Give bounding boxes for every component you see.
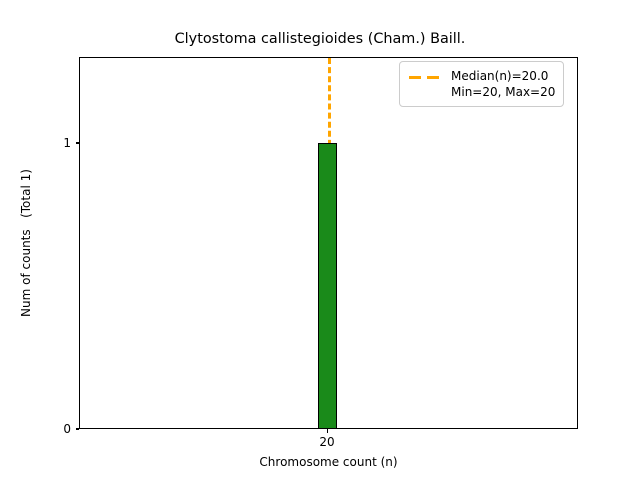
ytick-label-0: 0 (55, 423, 71, 435)
ytick-label-1: 1 (55, 137, 71, 149)
y-axis-label: Num of counts (Total 1) (19, 57, 33, 429)
ytick-mark-1 (76, 142, 80, 143)
y-axis-label-wrapper: Num of counts (Total 1) (0, 0, 48, 480)
plot-inner (80, 58, 577, 428)
xtick-mark-20 (327, 429, 328, 433)
legend-entry-median: Median(n)=20.0 (451, 68, 555, 84)
chart-title: Clytostoma callistegioides (Cham.) Baill… (0, 31, 640, 48)
ytick-mark-0 (76, 428, 80, 429)
x-axis-label: Chromosome count (n) (79, 455, 578, 469)
plot-area (79, 57, 578, 429)
legend-entry-minmax: Min=20, Max=20 (451, 84, 555, 100)
legend-dashed-line-icon (408, 69, 442, 85)
xtick-label-20: 20 (287, 436, 367, 448)
histogram-bar (318, 143, 337, 428)
matplotlib-figure: Clytostoma callistegioides (Cham.) Baill… (0, 0, 640, 480)
legend: Median(n)=20.0 Min=20, Max=20 (399, 61, 564, 107)
legend-text: Median(n)=20.0 Min=20, Max=20 (451, 68, 555, 100)
